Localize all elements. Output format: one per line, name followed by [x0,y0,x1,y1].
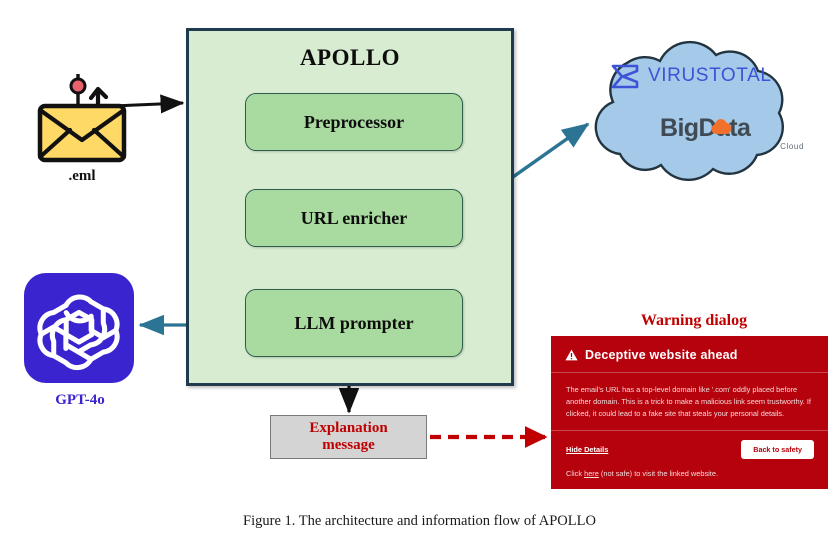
figure-apollo-architecture: .eml GPT-4o APOLLO Preprocessor URL enri… [0,0,839,550]
warning-dialog: Deceptive website ahead The email's URL … [551,336,828,489]
bigdatacloud-icon [710,118,736,136]
footer-suffix: (not safe) to visit the linked website. [599,469,718,478]
footer-prefix: Click [566,469,584,478]
warning-triangle-icon [565,349,578,361]
apollo-title: APOLLO [189,45,511,71]
virustotal-service: VIRUSTOTAL [610,60,800,92]
hide-details-link[interactable]: Hide Details [566,445,608,454]
bigdatacloud-sublabel: Cloud [780,142,804,151]
warning-dialog-title: Deceptive website ahead [585,348,738,362]
bigdatacloud-wordmark: BigData [660,114,750,142]
cloud-services-group: VIRUSTOTAL BigData Cloud [562,22,824,188]
warning-dialog-body: The email's URL has a top-level domain l… [551,373,828,431]
cloud-icon [562,22,824,188]
warning-dialog-header: Deceptive website ahead [551,336,828,373]
footer-here-link[interactable]: here [584,469,599,478]
explanation-line-1: Explanation [309,420,387,436]
back-to-safety-button[interactable]: Back to safety [741,440,814,459]
openai-logo-icon [24,273,134,383]
bigdatacloud-service: BigData Cloud [660,116,810,150]
eml-email-icon [26,62,138,174]
figure-caption: Figure 1. The architecture and informati… [0,513,839,530]
virustotal-wordmark: VIRUSTOTAL [648,65,772,87]
preprocessor-box: Preprocessor [245,93,463,151]
explanation-line-2: message [322,437,375,453]
warning-dialog-actions: Hide Details Back to safety [551,431,828,463]
virustotal-sigma-icon [610,63,640,90]
llm-prompter-box: LLM prompter [245,289,463,357]
warning-dialog-footer: Click here (not safe) to visit the linke… [551,463,828,478]
url-enricher-box: URL enricher [245,189,463,247]
explanation-message-box: Explanation message [270,415,427,459]
warning-dialog-heading: Warning dialog [594,312,794,330]
apollo-container: APOLLO Preprocessor URL enricher LLM pro… [186,28,514,386]
gpt4o-label: GPT-4o [10,392,150,409]
eml-label: .eml [26,168,138,185]
